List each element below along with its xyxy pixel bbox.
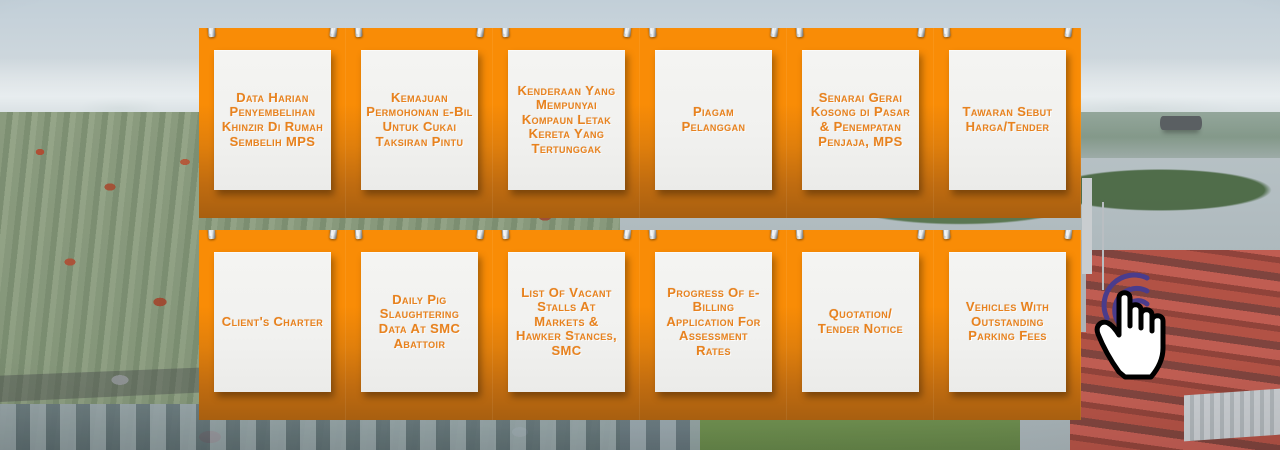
paper-clip-icon	[917, 28, 925, 37]
paper-clip-icon	[501, 28, 509, 37]
tile-paper: Piagam Pelanggan	[655, 50, 772, 190]
paper-clip-icon	[329, 28, 337, 37]
tile-title: Vehicles With Outstanding Parking Fees	[954, 300, 1061, 344]
paper-clip-icon	[1064, 230, 1072, 239]
dataset-tile-progress-of-ebilling[interactable]: Progress Of e-Billing Application For As…	[640, 230, 787, 420]
tile-title: Kemajuan Permohonan e-Bil Untuk Cukai Ta…	[366, 91, 473, 149]
dataset-tile-quotation-tender-notice[interactable]: Quotation/ Tender Notice	[787, 230, 934, 420]
dataset-tile-daily-pig-slaughtering-data[interactable]: Daily Pig Slaughtering Data At SMC Abatt…	[346, 230, 493, 420]
paper-clip-icon	[207, 28, 215, 37]
tile-paper: Tawaran Sebut Harga/Tender	[949, 50, 1066, 190]
dataset-tile-tawaran-sebut-harga-tender[interactable]: Tawaran Sebut Harga/Tender	[934, 28, 1081, 218]
paper-clip-icon	[770, 28, 778, 37]
paper-clip-icon	[354, 28, 362, 37]
dataset-tile-kemajuan-permohonan-ebil[interactable]: Kemajuan Permohonan e-Bil Untuk Cukai Ta…	[346, 28, 493, 218]
tile-title: Progress Of e-Billing Application For As…	[660, 286, 767, 359]
tile-paper: Daily Pig Slaughtering Data At SMC Abatt…	[361, 252, 478, 392]
paper-clip-icon	[795, 230, 803, 239]
dataset-tile-vehicles-outstanding-parking-fees[interactable]: Vehicles With Outstanding Parking Fees	[934, 230, 1081, 420]
paper-clip-icon	[770, 230, 778, 239]
paper-clip-icon	[354, 230, 362, 239]
paper-clip-icon	[917, 230, 925, 239]
paper-clip-icon	[476, 230, 484, 239]
tile-paper: Senarai Gerai Kosong di Pasar & Penempat…	[802, 50, 919, 190]
paper-clip-icon	[623, 230, 631, 239]
tile-paper: Client's Charter	[214, 252, 331, 392]
paper-clip-icon	[623, 28, 631, 37]
paper-clip-icon	[648, 28, 656, 37]
tile-title: Quotation/ Tender Notice	[807, 307, 914, 336]
dataset-tile-kenderaan-kompaun-letak-kereta[interactable]: Kenderaan Yang Mempunyai Kompaun Letak K…	[493, 28, 640, 218]
tile-title: Tawaran Sebut Harga/Tender	[954, 105, 1061, 134]
dataset-tile-grid: Data Harian Penyembelihan Khinzir Di Rum…	[199, 28, 1081, 420]
paper-clip-icon	[1064, 28, 1072, 37]
tile-paper: Vehicles With Outstanding Parking Fees	[949, 252, 1066, 392]
dataset-tile-list-of-vacant-stalls[interactable]: List Of Vacant Stalls At Markets & Hawke…	[493, 230, 640, 420]
tile-paper: Kemajuan Permohonan e-Bil Untuk Cukai Ta…	[361, 50, 478, 190]
paper-clip-icon	[942, 28, 950, 37]
paper-clip-icon	[942, 230, 950, 239]
tile-paper: Kenderaan Yang Mempunyai Kompaun Letak K…	[508, 50, 625, 190]
paper-clip-icon	[648, 230, 656, 239]
tile-paper: Progress Of e-Billing Application For As…	[655, 252, 772, 392]
paper-clip-icon	[501, 230, 509, 239]
dataset-tile-senarai-gerai-kosong[interactable]: Senarai Gerai Kosong di Pasar & Penempat…	[787, 28, 934, 218]
tile-title: Senarai Gerai Kosong di Pasar & Penempat…	[807, 91, 914, 149]
tile-title: Client's Charter	[222, 315, 323, 330]
paper-clip-icon	[795, 28, 803, 37]
dataset-tile-clients-charter[interactable]: Client's Charter	[199, 230, 346, 420]
dataset-tile-piagam-pelanggan[interactable]: Piagam Pelanggan	[640, 28, 787, 218]
tile-title: List Of Vacant Stalls At Markets & Hawke…	[513, 286, 620, 359]
tile-title: Piagam Pelanggan	[660, 105, 767, 134]
paper-clip-icon	[329, 230, 337, 239]
tile-title: Daily Pig Slaughtering Data At SMC Abatt…	[366, 293, 473, 351]
tile-title: Data Harian Penyembelihan Khinzir Di Rum…	[219, 91, 326, 149]
tile-paper: Quotation/ Tender Notice	[802, 252, 919, 392]
dataset-tile-data-harian-penyembelihan[interactable]: Data Harian Penyembelihan Khinzir Di Rum…	[199, 28, 346, 218]
tile-paper: List Of Vacant Stalls At Markets & Hawke…	[508, 252, 625, 392]
tile-title: Kenderaan Yang Mempunyai Kompaun Letak K…	[513, 84, 620, 157]
tile-paper: Data Harian Penyembelihan Khinzir Di Rum…	[214, 50, 331, 190]
paper-clip-icon	[476, 28, 484, 37]
paper-clip-icon	[207, 230, 215, 239]
